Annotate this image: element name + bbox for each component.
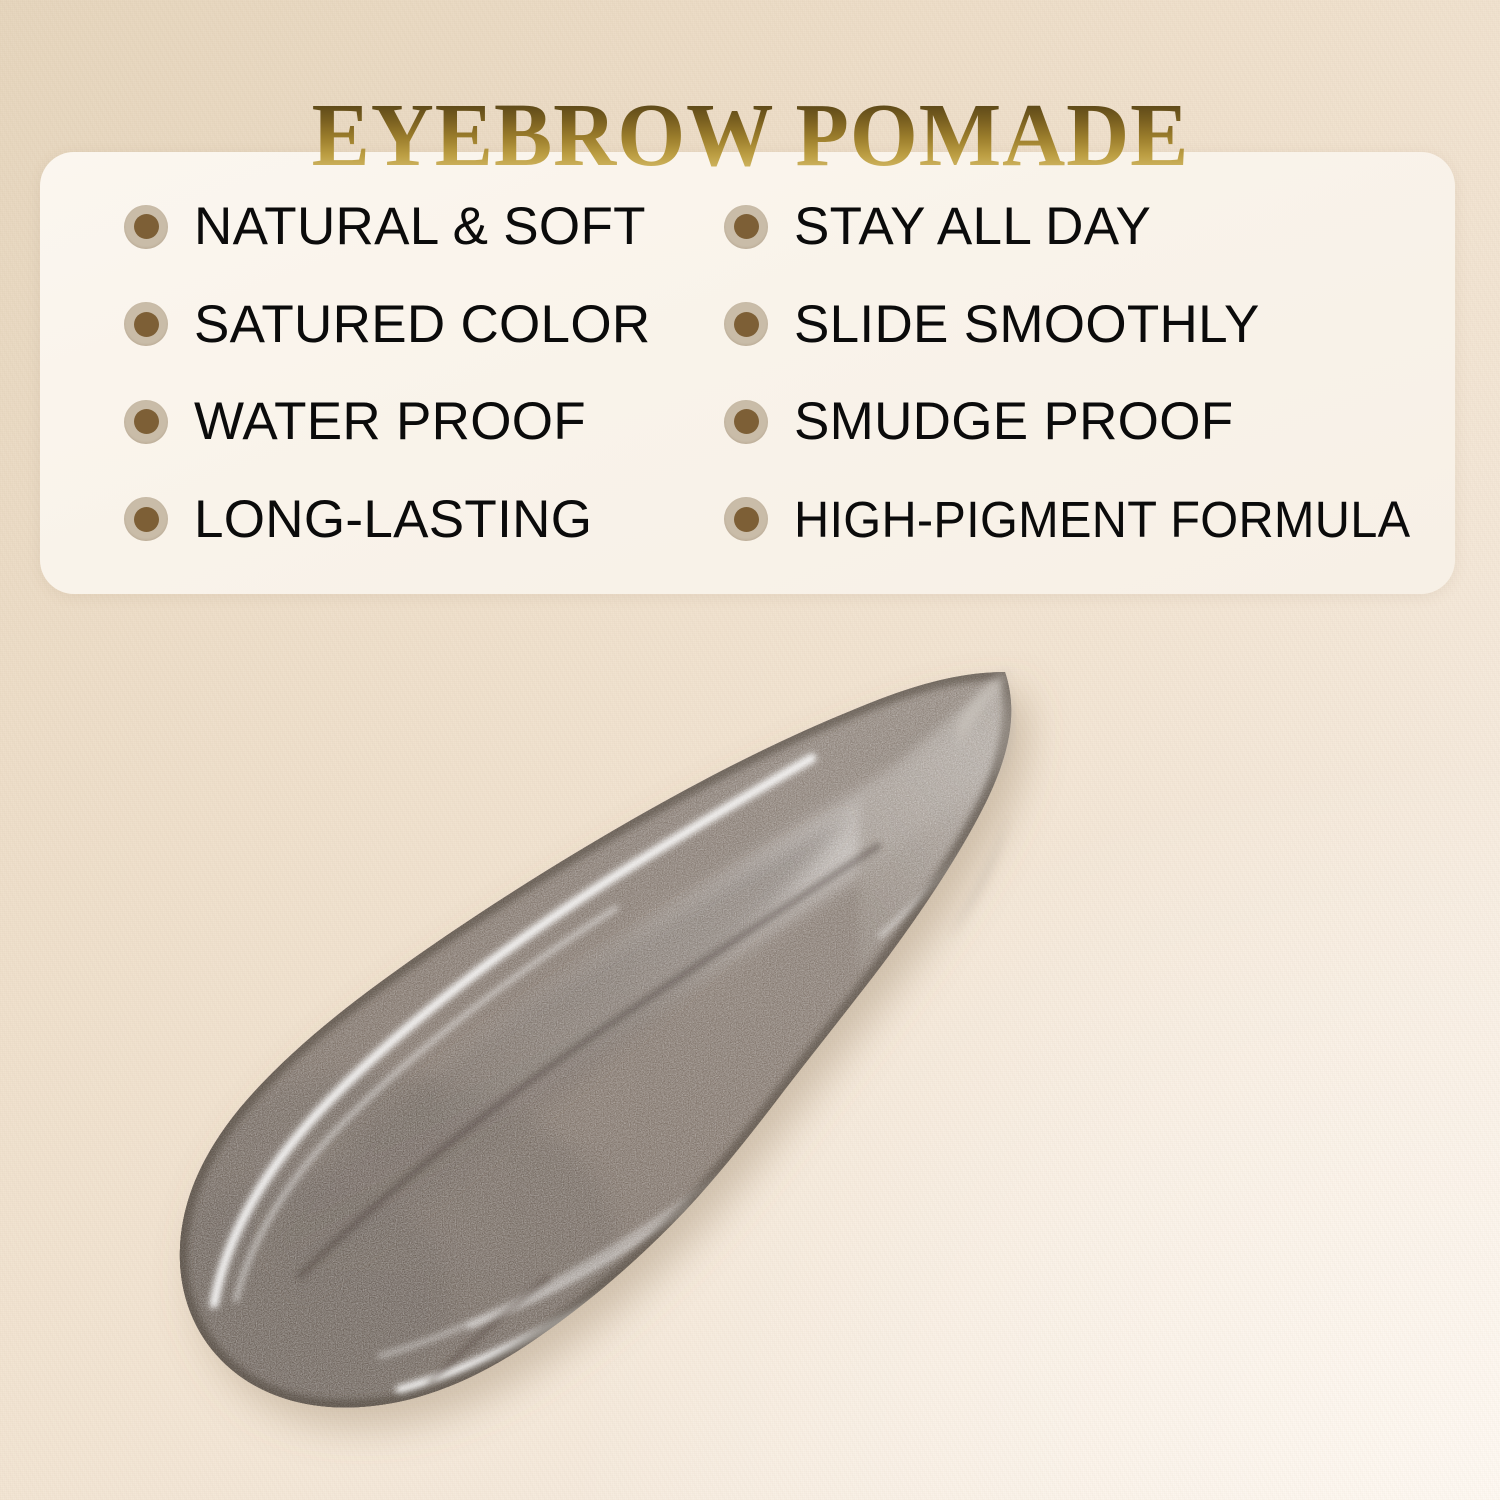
bullet-dot-icon (124, 400, 168, 444)
swatch-body-layer (0, 600, 1500, 1500)
bullet-dot-icon (124, 302, 168, 346)
product-marketing-page: EYEBROW POMADE NATURAL & SOFT STAY ALL D… (0, 0, 1500, 1500)
feature-item-slide-smoothly: SLIDE SMOOTHLY (724, 298, 1439, 351)
bullet-dot-icon (724, 497, 768, 541)
pomade-smear-swatch (0, 600, 1500, 1500)
feature-label: SATURED COLOR (194, 298, 650, 351)
page-title: EYEBROW POMADE (311, 88, 1189, 183)
feature-label: SMUDGE PROOF (794, 395, 1233, 448)
bullet-dot-icon (124, 497, 168, 541)
feature-item-long-lasting: LONG-LASTING (124, 493, 724, 546)
feature-label: HIGH-PIGMENT FORMULA (794, 494, 1410, 545)
feature-item-smudge-proof: SMUDGE PROOF (724, 395, 1439, 448)
feature-item-water-proof: WATER PROOF (124, 395, 724, 448)
pomade-swatch-area (0, 600, 1500, 1500)
bullet-dot-icon (724, 400, 768, 444)
feature-item-high-pigment-formula: HIGH-PIGMENT FORMULA (724, 494, 1439, 545)
feature-label: LONG-LASTING (194, 493, 592, 546)
page-title-container: EYEBROW POMADE (0, 28, 1500, 244)
feature-label: SLIDE SMOOTHLY (794, 298, 1260, 351)
feature-label: WATER PROOF (194, 395, 586, 448)
feature-item-satured-color: SATURED COLOR (124, 298, 724, 351)
bullet-dot-icon (724, 302, 768, 346)
